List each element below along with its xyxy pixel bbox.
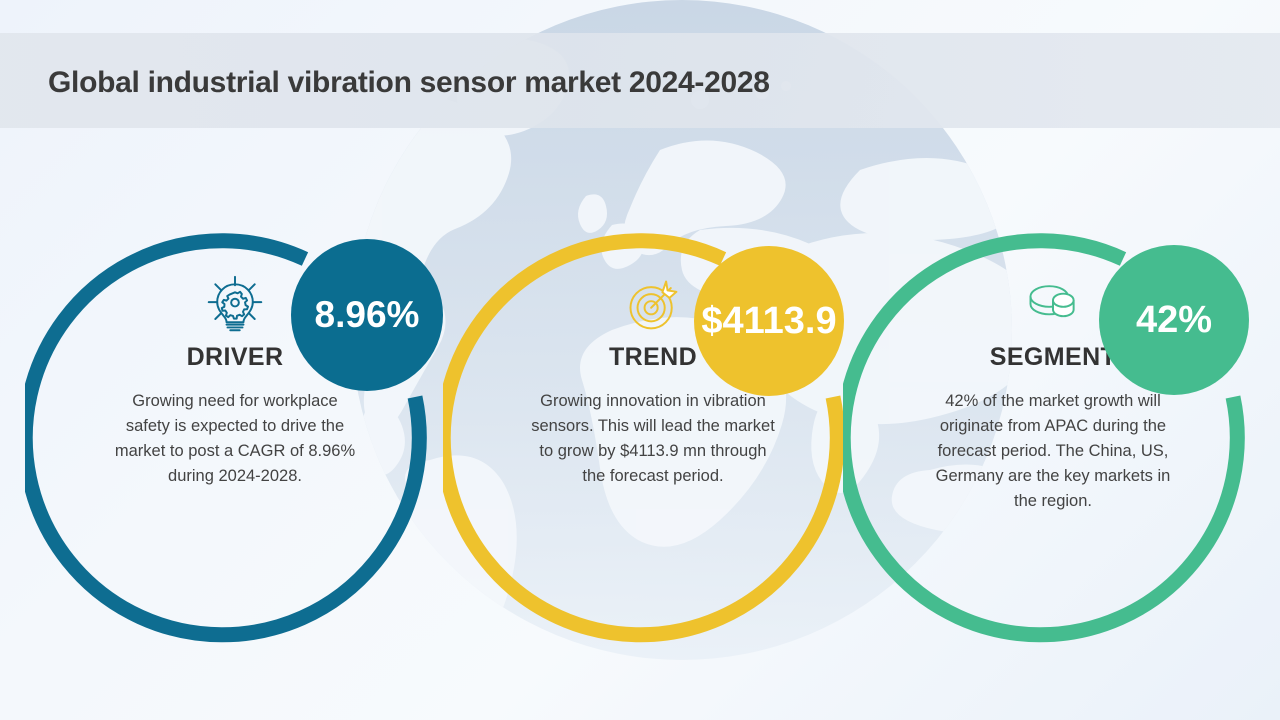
badge-value-driver: 8.96% (315, 294, 420, 336)
card-label-driver: DRIVER (187, 343, 284, 372)
badge-driver: 8.96% (291, 239, 443, 391)
badge-segment: 42% (1099, 245, 1249, 395)
infographic-canvas: Global industrial vibration sensor marke… (0, 0, 1280, 720)
target-arrow-icon (623, 274, 683, 334)
lightbulb-gear-icon (205, 274, 265, 334)
page-title: Global industrial vibration sensor marke… (48, 66, 770, 100)
card-body-driver: Growing need for workplace safety is exp… (109, 389, 361, 489)
badge-value-segment: 42% (1136, 299, 1212, 342)
card-label-segment: SEGMENT (990, 343, 1116, 372)
card-body-segment: 42% of the market growth will originate … (924, 389, 1182, 514)
badge-trend: $4113.9 (694, 246, 844, 396)
pie-chart-3d-icon (1023, 274, 1083, 334)
card-label-trend: TREND (609, 343, 697, 372)
card-body-trend: Growing innovation in vibration sensors.… (527, 389, 779, 489)
badge-value-trend: $4113.9 (701, 300, 836, 343)
